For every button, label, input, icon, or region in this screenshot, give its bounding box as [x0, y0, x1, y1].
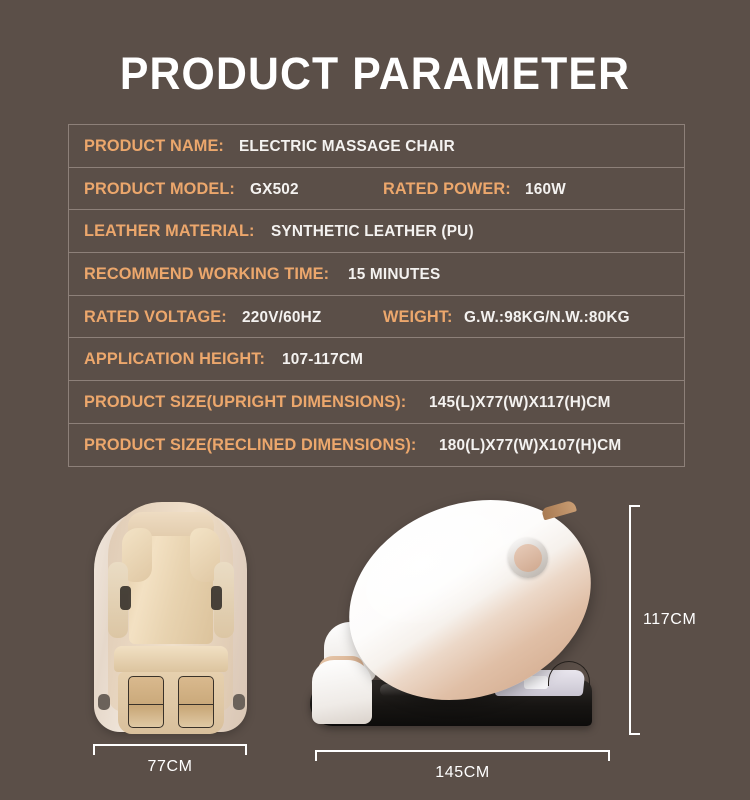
chair-speaker-core-icon	[514, 544, 542, 572]
chair-foot-divider-right	[178, 704, 214, 705]
spec-label: PRODUCT MODEL:	[84, 179, 235, 199]
spec-value: 15 MINUTES	[348, 266, 440, 284]
spec-label: PRODUCT SIZE(RECLINED DIMENSIONS):	[84, 435, 416, 455]
dimension-label-width: 77CM	[93, 758, 247, 776]
chair-top-tab	[541, 500, 577, 521]
spec-cell-primary: PRODUCT NAME: ELECTRIC MASSAGE CHAIR	[69, 136, 464, 156]
table-row: RECOMMEND WORKING TIME: 15 MINUTES	[69, 253, 684, 296]
dimension-line-length	[315, 750, 610, 752]
dimension-line-width	[93, 744, 247, 746]
spec-value: 160W	[525, 181, 566, 199]
table-row: PRODUCT SIZE(UPRIGHT DIMENSIONS): 145(L)…	[69, 381, 684, 424]
spec-value: 220V/60HZ	[242, 309, 321, 327]
table-row: LEATHER MATERIAL: SYNTHETIC LEATHER (PU)	[69, 210, 684, 253]
spec-value: SYNTHETIC LEATHER (PU)	[271, 223, 474, 241]
spec-cell-secondary: WEIGHT: G.W.:98KG/N.W.:80KG	[383, 307, 637, 327]
chair-handle-right	[211, 586, 222, 610]
spec-label: WEIGHT:	[383, 307, 453, 327]
chair-calf-compartment-right	[178, 676, 214, 728]
spec-label: RATED POWER:	[383, 179, 511, 199]
spec-value: GX502	[250, 181, 299, 199]
massage-chair-side-view-image	[310, 498, 610, 738]
spec-cell-secondary: RATED POWER: 160W	[383, 179, 568, 199]
product-parameter-table: PRODUCT NAME: ELECTRIC MASSAGE CHAIR PRO…	[68, 124, 685, 467]
spec-cell-primary: PRODUCT SIZE(RECLINED DIMENSIONS): 180(L…	[69, 435, 629, 455]
chair-footrest-pod-front	[312, 660, 372, 724]
spec-label: PRODUCT NAME:	[84, 136, 224, 156]
spec-value: 180(L)X77(W)X107(H)CM	[439, 437, 621, 455]
chair-power-cord	[548, 661, 590, 686]
chair-wheel-right	[233, 694, 245, 710]
chair-handle-left	[120, 586, 131, 610]
table-row: PRODUCT SIZE(RECLINED DIMENSIONS): 180(L…	[69, 424, 684, 467]
spec-cell-primary: LEATHER MATERIAL: SYNTHETIC LEATHER (PU)	[69, 221, 482, 241]
spec-cell-primary: PRODUCT MODEL: GX502	[69, 179, 301, 199]
chair-calf-compartment-left	[128, 676, 164, 728]
spec-cell-primary: RECOMMEND WORKING TIME: 15 MINUTES	[69, 264, 445, 284]
spec-value: 145(L)X77(W)X117(H)CM	[429, 394, 611, 412]
spec-cell-primary: RATED VOLTAGE: 220V/60HZ	[69, 307, 324, 327]
spec-value: ELECTRIC MASSAGE CHAIR	[239, 138, 455, 156]
spec-cell-primary: PRODUCT SIZE(UPRIGHT DIMENSIONS): 145(L)…	[69, 392, 618, 412]
table-row: PRODUCT NAME: ELECTRIC MASSAGE CHAIR	[69, 125, 684, 168]
spec-label: PRODUCT SIZE(UPRIGHT DIMENSIONS):	[84, 392, 406, 412]
spec-cell-primary: APPLICATION HEIGHT: 107-117CM	[69, 349, 366, 369]
dimension-line-height	[629, 505, 631, 735]
chair-wheel-left	[98, 694, 110, 710]
spec-label: LEATHER MATERIAL:	[84, 221, 255, 241]
product-figures: 77CM 145CM 117CM	[0, 490, 750, 800]
chair-foot-divider-left	[128, 704, 164, 705]
spec-label: RECOMMEND WORKING TIME:	[84, 264, 329, 284]
dimension-label-length: 145CM	[315, 764, 610, 782]
dimension-label-height: 117CM	[643, 611, 696, 629]
table-row: RATED VOLTAGE: 220V/60HZ WEIGHT: G.W.:98…	[69, 296, 684, 339]
page-title: PRODUCT PARAMETER	[19, 47, 732, 101]
table-row: APPLICATION HEIGHT: 107-117CM	[69, 338, 684, 381]
spec-value: G.W.:98KG/N.W.:80KG	[464, 309, 630, 327]
spec-label: APPLICATION HEIGHT:	[84, 349, 265, 369]
massage-chair-front-view-image	[88, 498, 253, 738]
spec-label: RATED VOLTAGE:	[84, 307, 227, 327]
table-row: PRODUCT MODEL: GX502 RATED POWER: 160W	[69, 168, 684, 211]
chair-seat-cushion	[114, 646, 228, 672]
spec-value: 107-117CM	[282, 351, 363, 369]
